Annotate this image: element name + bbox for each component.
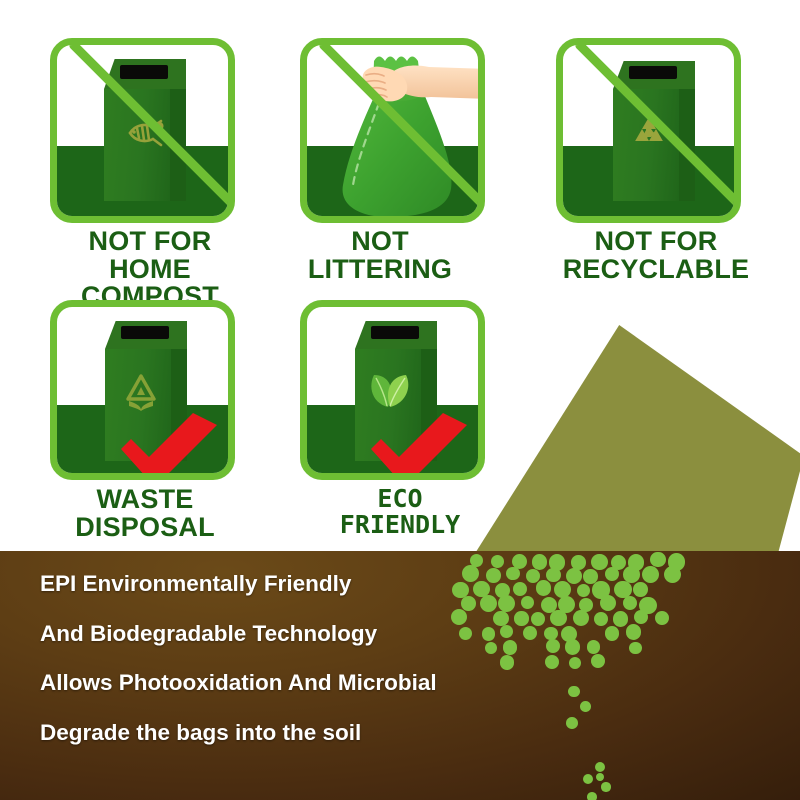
particle-dot <box>545 655 559 669</box>
particle-dot <box>506 567 519 580</box>
particle-dot <box>591 654 605 668</box>
particle-dot <box>634 610 649 625</box>
particle-dot <box>536 580 552 596</box>
icon-caption: NOT LITTERING <box>280 228 480 283</box>
particle-dot <box>587 792 597 800</box>
icon-caption: NOT FOR RECYCLABLE <box>556 228 756 283</box>
icon-caption: NOT FOR HOME COMPOST <box>50 228 250 311</box>
particle-dot <box>500 625 513 638</box>
particle-dot <box>523 626 537 640</box>
particle-dot <box>626 624 641 639</box>
particle-dot <box>566 568 582 584</box>
olive-biodegradable-bag <box>474 325 800 555</box>
icon-card-not-for-home-compost[interactable]: NOT FOR HOME COMPOST <box>50 38 250 288</box>
particle-dot <box>601 782 610 791</box>
bin-slot <box>371 326 419 339</box>
bin-slot <box>121 326 169 339</box>
particle-dot <box>569 657 582 670</box>
icon-card-not-littering[interactable]: NOT LITTERING <box>300 38 500 288</box>
particle-dot <box>605 626 619 640</box>
icon-frame <box>300 300 485 480</box>
approved-check-icon <box>119 413 219 480</box>
icon-card-eco-friendly[interactable]: ECO FRIENDLY <box>300 300 500 550</box>
tidyman-triangle-icon <box>123 371 159 416</box>
two-leaves-icon <box>368 373 414 414</box>
info-text-block: EPI Environmentally Friendly And Biodegr… <box>40 573 490 771</box>
particle-dot <box>573 610 589 626</box>
particle-dot <box>629 642 641 654</box>
particle-dot <box>664 566 681 583</box>
particle-dot <box>513 582 527 596</box>
info-line: EPI Environmentally Friendly <box>40 573 490 596</box>
particle-dot <box>531 612 545 626</box>
particle-dot <box>596 773 605 782</box>
particle-dot <box>587 640 600 653</box>
particle-dot <box>532 554 547 569</box>
info-line: Allows Photooxidation And Microbial <box>40 672 490 695</box>
particle-dot <box>546 639 560 653</box>
icon-caption: WASTE DISPOSAL <box>45 486 245 541</box>
particle-dot <box>655 611 669 625</box>
particle-dot <box>633 582 648 597</box>
particle-dot <box>568 686 579 697</box>
hand-holding-garbage-bag-icon <box>319 51 485 223</box>
bin-slot <box>120 65 168 79</box>
approved-check-icon <box>369 413 469 480</box>
icon-frame <box>50 38 235 223</box>
icon-frame <box>556 38 741 223</box>
particle-dot <box>605 567 619 581</box>
particle-dot <box>550 610 566 626</box>
particle-dot <box>500 655 514 669</box>
particle-dot <box>650 552 666 568</box>
trash-bin-icon <box>613 61 695 201</box>
icon-card-not-for-recyclable[interactable]: NOT FOR RECYCLABLE <box>556 38 756 288</box>
info-line: And Biodegradable Technology <box>40 623 490 646</box>
poster-root: NOT FOR HOME COMPOST <box>0 0 800 800</box>
particle-dot <box>565 639 580 654</box>
icon-grid: NOT FOR HOME COMPOST <box>0 0 800 551</box>
icon-caption: ECO FRIENDLY <box>300 486 500 537</box>
particle-dot <box>642 566 659 583</box>
particle-dot <box>600 595 616 611</box>
bin-slot <box>629 66 677 79</box>
particle-dot <box>623 596 637 610</box>
particle-dot <box>613 611 629 627</box>
trash-bin-icon <box>104 59 186 201</box>
particle-dot <box>566 717 578 729</box>
particle-dot <box>595 762 605 772</box>
particle-dot <box>491 555 504 568</box>
particle-dot <box>583 774 593 784</box>
particle-dot <box>577 584 590 597</box>
particle-dot <box>493 611 509 627</box>
particle-dot <box>591 554 608 571</box>
particle-dot <box>521 596 534 609</box>
particle-dot <box>514 611 528 625</box>
info-line: Degrade the bags into the soil <box>40 722 490 745</box>
particle-dot <box>498 595 515 612</box>
particle-dot <box>594 612 608 626</box>
info-band: EPI Environmentally Friendly And Biodegr… <box>0 551 800 800</box>
icon-frame <box>300 38 485 223</box>
icon-card-waste-disposal[interactable]: WASTE DISPOSAL <box>50 300 250 550</box>
icon-frame <box>50 300 235 480</box>
particle-dot <box>546 568 561 583</box>
particle-dot <box>503 640 518 655</box>
particle-dot <box>580 701 591 712</box>
